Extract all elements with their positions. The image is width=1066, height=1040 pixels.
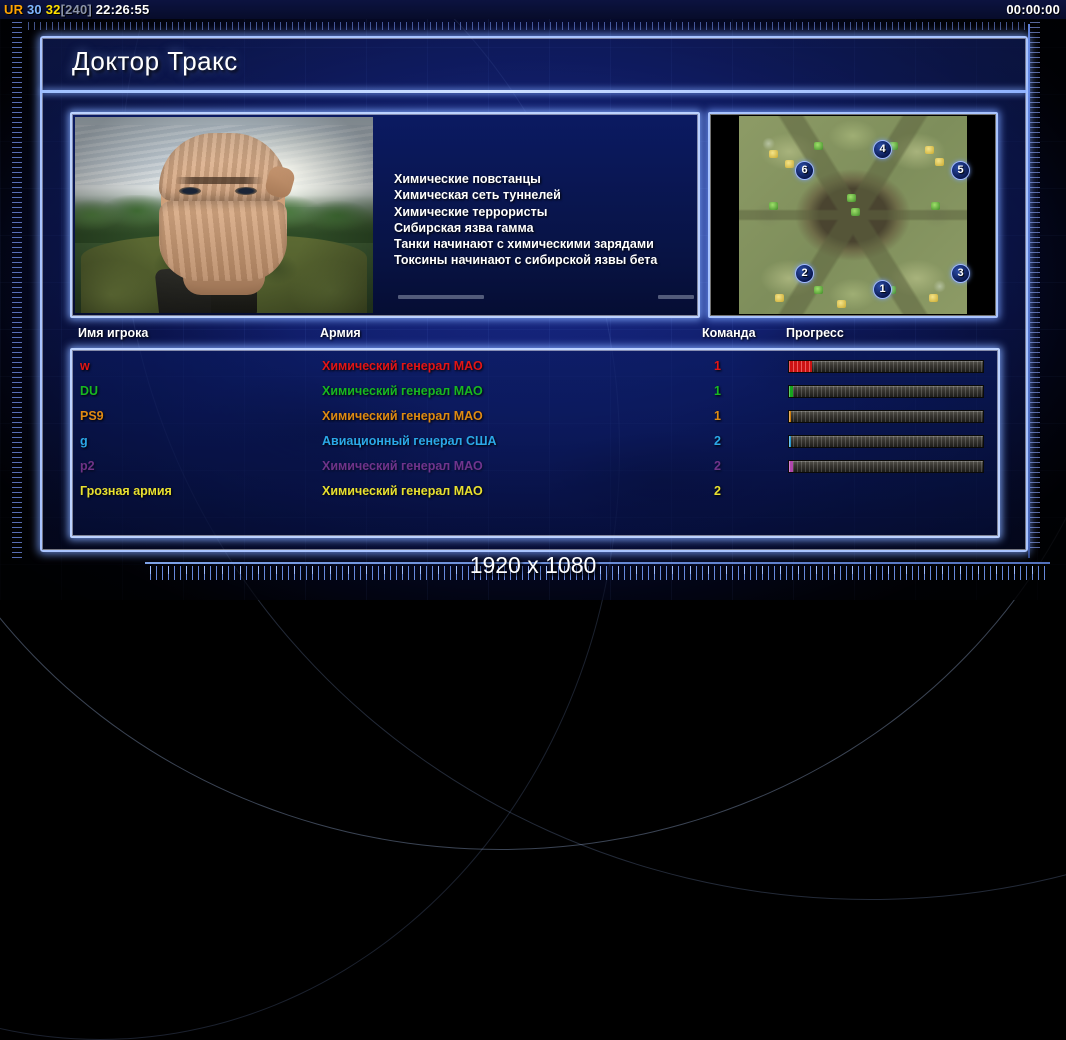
column-header-player-name: Имя игрока [78,326,148,340]
minimap-panel: 123456 [708,112,998,318]
player-progress-bar [788,460,984,473]
map-resource-node [935,158,944,166]
map-resource-node [929,294,938,302]
player-army: Химический генерал МАО [322,459,483,473]
title-separator [42,90,1026,93]
resolution-label: 1920 x 1080 [0,552,1066,579]
player-team: 1 [714,409,721,423]
description-line: Токсины начинают с сибирской язвы бета [394,252,694,268]
general-description: Химические повстанцыХимическая сеть тунн… [382,117,696,313]
map-resource-node [814,142,823,150]
player-team: 1 [714,359,721,373]
table-row: wХимический генерал МАО1 [72,356,998,381]
map-preview: 123456 [712,116,994,314]
column-header-progress: Прогресс [786,326,844,340]
player-army: Химический генерал МАО [322,359,483,373]
description-line: Химические террористы [394,204,694,220]
map-start-position-2: 2 [795,264,814,283]
description-line-list: Химические повстанцыХимическая сеть тунн… [394,171,694,269]
player-progress-fill [789,461,793,472]
column-header-team: Команда [702,326,756,340]
map-resource-node [851,208,860,216]
player-progress-fill [789,436,791,447]
player-team: 2 [714,459,721,473]
session-clock: 00:00:00 [1006,2,1060,17]
player-name: Грозная армия [80,484,172,498]
description-decoration-right [658,295,694,299]
general-portrait-image [75,117,373,313]
player-progress-bar [788,410,984,423]
player-team: 2 [714,484,721,498]
table-row: PS9Химический генерал МАО1 [72,406,998,431]
player-progress-bar [788,385,984,398]
map-resource-node [785,160,794,168]
map-resource-node [814,286,823,294]
player-table-panel: wХимический генерал МАО1DUХимический ген… [70,348,1000,538]
map-start-position-1: 1 [873,280,892,299]
stats-value-a: 30 [27,2,42,17]
player-army: Химический генерал МАО [322,384,483,398]
top-status-bar: UR 30 32[240] 22:26:55 00:00:00 [0,0,1066,19]
map-start-position-5: 5 [951,161,970,180]
description-decoration-left [398,295,484,299]
stats-elapsed-time: 22:26:55 [96,2,150,17]
map-resource-node [837,300,846,308]
portrait-vignette [75,117,373,313]
stats-value-bracket: [240] [61,2,92,17]
player-name: g [80,434,88,448]
map-start-position-4: 4 [873,140,892,159]
map-resource-node [775,294,784,302]
loading-screen-panel: Доктор Тракс Химические повстанцыХимичес… [40,36,1028,552]
map-resource-node [847,194,856,202]
player-team: 1 [714,384,721,398]
player-name: DU [80,384,98,398]
map-resource-node [769,202,778,210]
player-progress-bar [788,360,984,373]
description-line: Танки начинают с химическими зарядами [394,236,694,252]
frame-rate-stats: UR 30 32[240] 22:26:55 [4,2,149,17]
table-row: Грозная армияХимический генерал МАО2 [72,481,998,506]
map-resource-node [925,146,934,154]
map-resource-node [931,202,940,210]
player-name: p2 [80,459,95,473]
player-progress-fill [789,411,791,422]
player-progress-fill [789,361,812,372]
page-title: Доктор Тракс [72,46,238,77]
player-army: Химический генерал МАО [322,484,483,498]
player-progress-bar [788,435,984,448]
description-line: Химическая сеть туннелей [394,187,694,203]
description-line: Химические повстанцы [394,171,694,187]
player-name: PS9 [80,409,104,423]
stats-label-ur: UR [4,2,23,17]
column-header-army: Армия [320,326,361,340]
map-start-position-3: 3 [951,264,970,283]
table-row: DUХимический генерал МАО1 [72,381,998,406]
player-name: w [80,359,90,373]
map-resource-node [769,150,778,158]
right-divider-line [1028,24,1030,558]
player-table-header: Имя игрока Армия Команда Прогресс [70,326,1000,348]
table-row: gАвиационный генерал США2 [72,431,998,456]
player-army: Химический генерал МАО [322,409,483,423]
general-info-panel: Химические повстанцыХимическая сеть тунн… [70,112,700,318]
description-line: Сибирская язва гамма [394,220,694,236]
player-team: 2 [714,434,721,448]
map-start-position-6: 6 [795,161,814,180]
player-progress-fill [789,386,793,397]
table-row: p2Химический генерал МАО2 [72,456,998,481]
player-army: Авиационный генерал США [322,434,497,448]
stats-value-b: 32 [46,2,61,17]
